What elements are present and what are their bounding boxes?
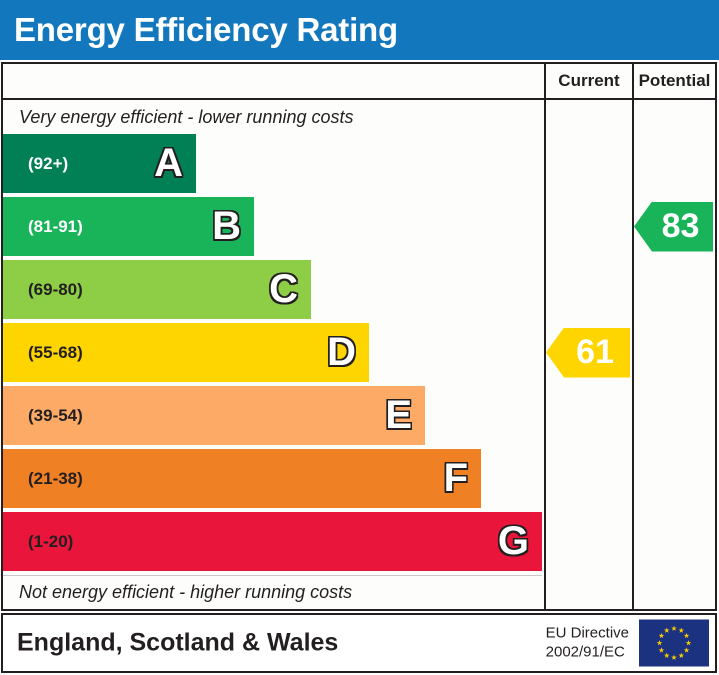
band-row: (39-54)E [3,386,542,445]
band-range-label: (92+) [28,154,68,174]
band-row: (92+)A [3,134,542,193]
energy-efficiency-rating-chart: Energy Efficiency Rating Current Potenti… [0,0,719,675]
footer-directive-line1: EU Directive [546,624,629,643]
band-letter-c: C [269,269,298,309]
potential-rating-arrow: 83 [634,202,713,252]
band-bar-g: (1-20)G [3,512,542,571]
column-divider-current [544,100,546,609]
caption-efficient-text: Very energy efficient - lower running co… [3,107,354,128]
band-letter-g: G [498,521,529,561]
band-letter-a: A [154,143,183,183]
rating-table: Current Potential Very energy efficient … [1,62,717,611]
band-range-label: (69-80) [28,280,83,300]
column-divider-potential [632,100,634,609]
band-letter-e: E [385,395,412,435]
column-header-row: Current Potential [3,64,715,100]
band-letter-b: B [212,206,241,246]
potential-rating-value: 83 [662,207,700,246]
footer-region-label: England, Scotland & Wales [17,629,338,658]
current-rating-arrow: 61 [546,328,630,378]
chart-title-bar: Energy Efficiency Rating [0,0,719,60]
band-letter-f: F [444,458,468,498]
band-range-label: (55-68) [28,343,83,363]
band-bar-d: (55-68)D [3,323,369,382]
band-bar-a: (92+)A [3,134,196,193]
band-range-label: (1-20) [28,532,73,552]
band-bar-e: (39-54)E [3,386,425,445]
footer-directive: EU Directive 2002/91/EC [546,624,629,662]
band-row: (69-80)C [3,260,542,319]
band-bar-b: (81-91)B [3,197,254,256]
band-list: (92+)A(81-91)B(69-80)C(55-68)D(39-54)E(2… [3,134,542,575]
band-letter-d: D [327,332,356,372]
band-row: (21-38)F [3,449,542,508]
band-range-label: (21-38) [28,469,83,489]
caption-efficient: Very energy efficient - lower running co… [3,100,542,134]
band-bar-c: (69-80)C [3,260,311,319]
footer-directive-line2: 2002/91/EC [546,643,629,662]
current-rating-value: 61 [576,333,614,372]
band-range-label: (81-91) [28,217,83,237]
band-bar-f: (21-38)F [3,449,481,508]
eu-flag-icon [639,620,709,667]
caption-inefficient-text: Not energy efficient - higher running co… [3,582,352,603]
footer-bar: England, Scotland & Wales EU Directive 2… [1,613,717,673]
page-title: Energy Efficiency Rating [14,11,398,49]
column-header-potential: Potential [632,64,715,98]
band-row: (81-91)B [3,197,542,256]
caption-inefficient: Not energy efficient - higher running co… [3,575,542,609]
band-range-label: (39-54) [28,406,83,426]
column-header-current: Current [544,64,632,98]
band-row: (55-68)D [3,323,542,382]
band-row: (1-20)G [3,512,542,571]
